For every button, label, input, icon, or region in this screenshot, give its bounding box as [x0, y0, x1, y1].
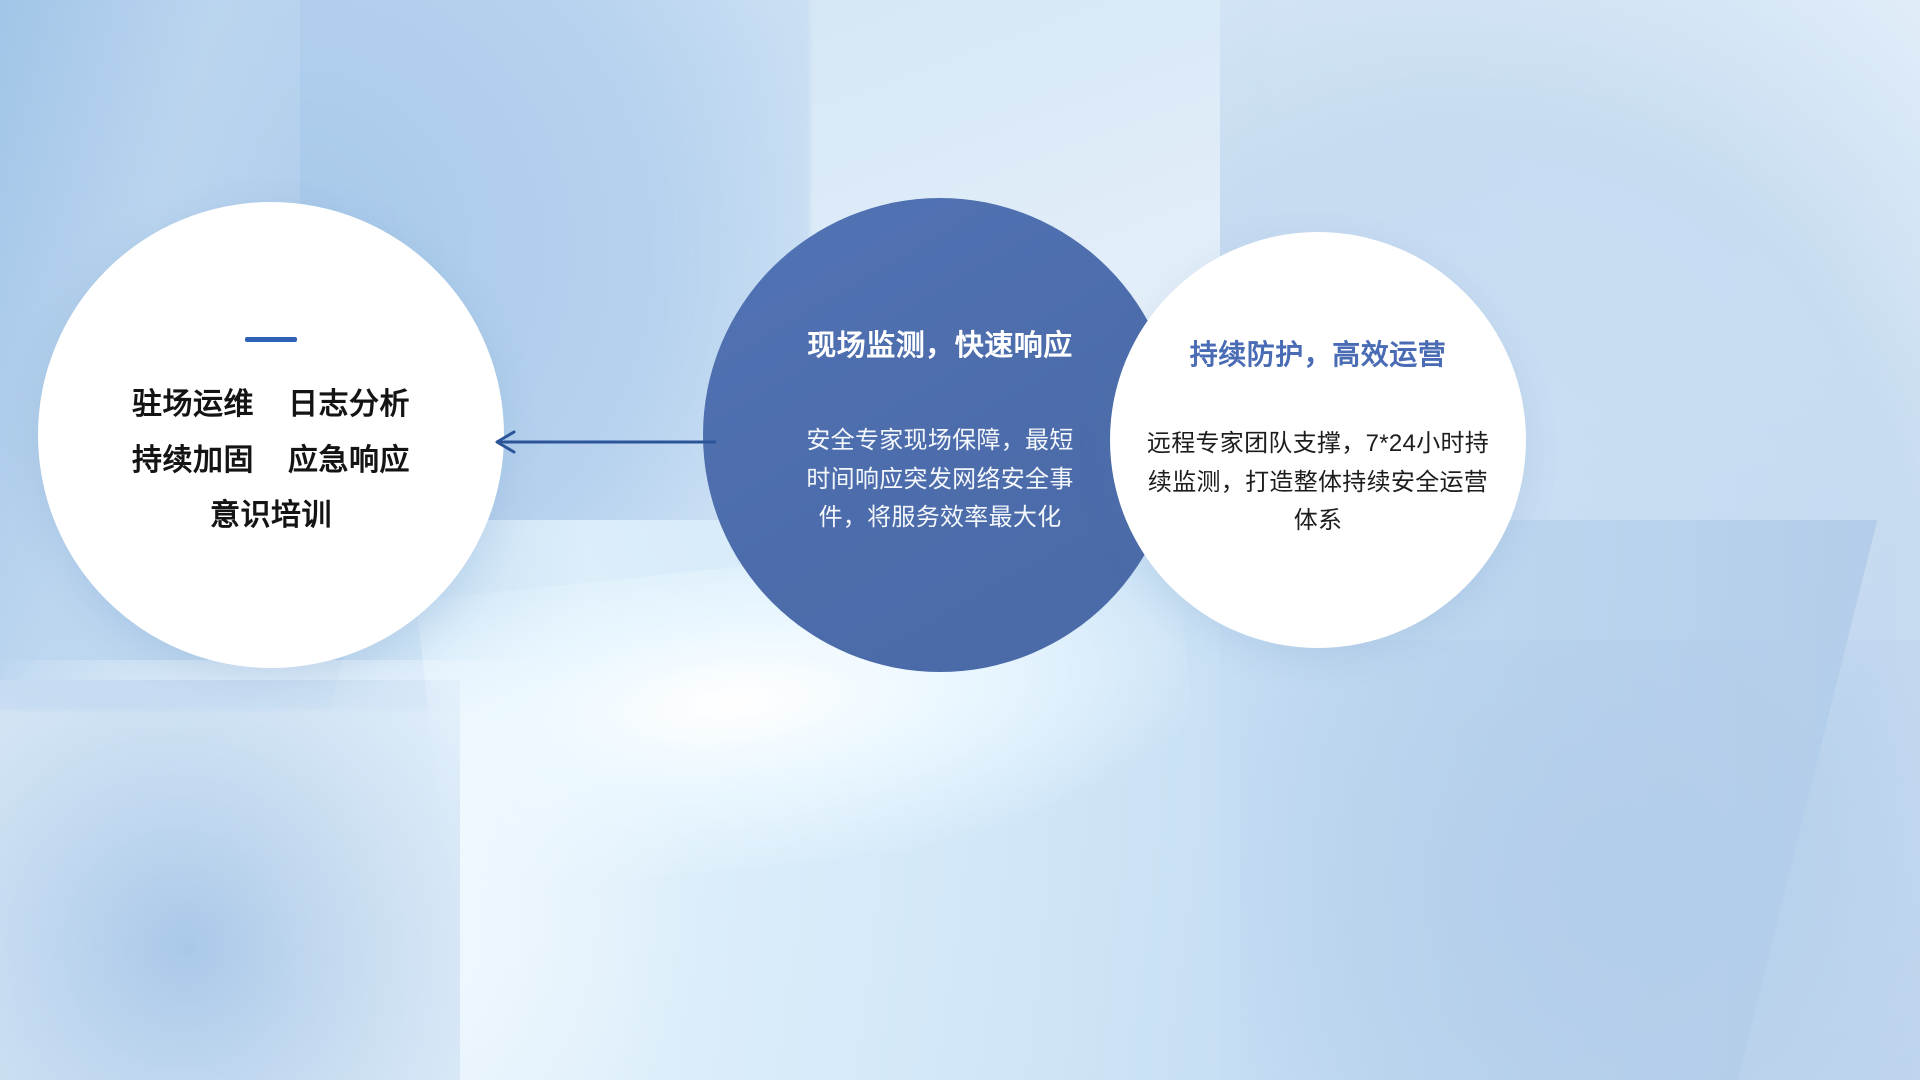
circle-right-title: 持续防护，高效运营 — [1190, 333, 1447, 373]
circle-middle-title: 现场监测，快速响应 — [807, 322, 1073, 364]
keyword-item: 应急响应 — [288, 444, 410, 478]
keyword-row: 意识培训 — [38, 499, 504, 533]
keyword-item: 日志分析 — [288, 388, 410, 422]
keyword-row: 驻场运维 日志分析 — [38, 388, 504, 422]
circle-right-body: 远程专家团队支撑，7*24小时持续监测，打造整体持续安全运营体系 — [1142, 425, 1494, 542]
diagram-stage: 驻场运维 日志分析 持续加固 应急响应 意识培训 现场监测，快速响应 安全专家现… — [0, 0, 1920, 1080]
circle-middle-body: 安全专家现场保障，最短时间响应突发网络安全事件，将服务效率最大化 — [795, 422, 1085, 539]
left-arrow-icon — [488, 412, 718, 472]
circle-continuous-protection: 持续防护，高效运营 远程专家团队支撑，7*24小时持续监测，打造整体持续安全运营… — [1110, 232, 1526, 648]
circle-keywords: 驻场运维 日志分析 持续加固 应急响应 意识培训 — [38, 202, 504, 668]
keyword-item: 持续加固 — [132, 444, 254, 478]
circle-onsite-monitoring: 现场监测，快速响应 安全专家现场保障，最短时间响应突发网络安全事件，将服务效率最… — [703, 198, 1177, 672]
divider-dash-icon — [245, 337, 297, 342]
keyword-rows: 驻场运维 日志分析 持续加固 应急响应 意识培训 — [38, 388, 504, 533]
keyword-row: 持续加固 应急响应 — [38, 444, 504, 478]
keyword-item: 驻场运维 — [132, 388, 254, 422]
keyword-item: 意识培训 — [210, 499, 332, 533]
